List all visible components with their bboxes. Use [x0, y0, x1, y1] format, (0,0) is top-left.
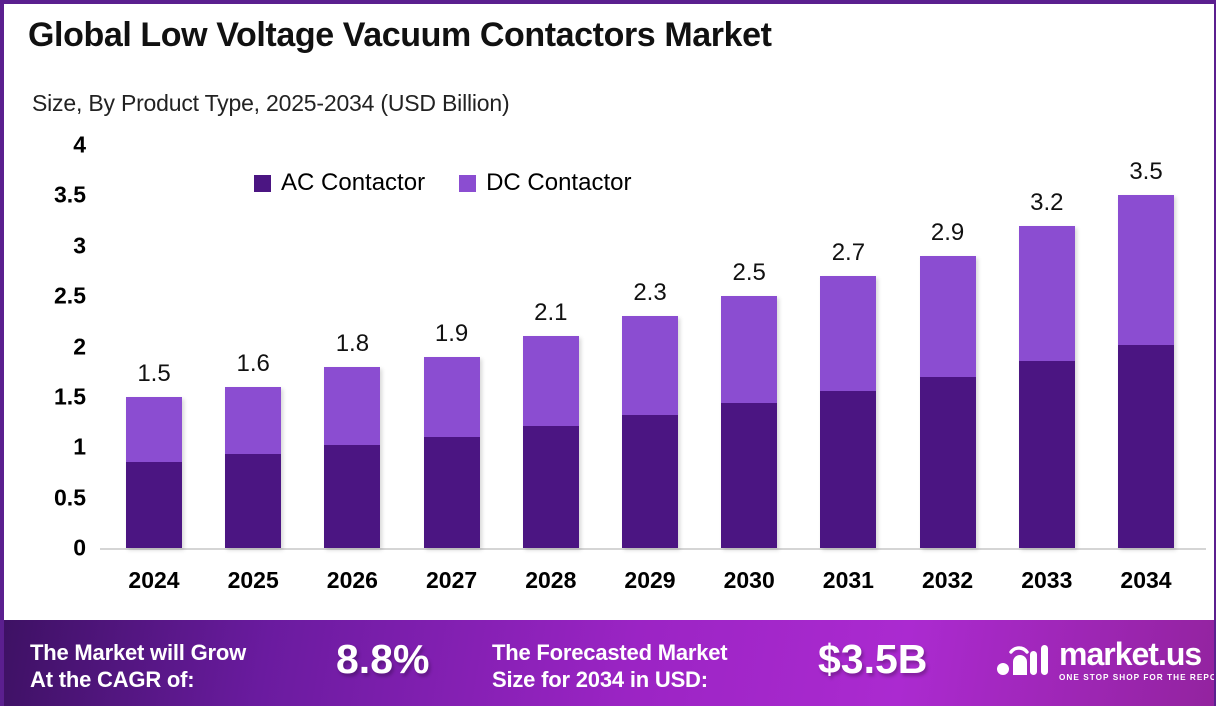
bar-total-label: 2.9: [931, 219, 964, 247]
bar-group[interactable]: 1.62025: [225, 387, 281, 548]
bar-segment-ac-contactor[interactable]: [225, 454, 281, 548]
size-caption-line1: The Forecasted Market: [492, 640, 727, 667]
market-us-logo-text: market.us ONE STOP SHOP FOR THE REPORTS: [1059, 638, 1216, 682]
bar-total-label: 3.5: [1129, 158, 1162, 186]
x-axis-label: 2027: [426, 567, 477, 594]
bar-total-label: 2.3: [633, 279, 666, 307]
bar-segment-dc-contactor[interactable]: [424, 357, 480, 438]
bar-stack[interactable]: [225, 387, 281, 548]
bar-series-container: 1.520241.620251.820261.920272.120282.320…: [4, 129, 1216, 604]
bar-group[interactable]: 1.52024: [126, 397, 182, 548]
bar-stack[interactable]: [126, 397, 182, 548]
bar-segment-ac-contactor[interactable]: [523, 426, 579, 548]
bar-group[interactable]: 2.92032: [920, 256, 976, 548]
bar-segment-ac-contactor[interactable]: [920, 377, 976, 548]
bar-group[interactable]: 3.52034: [1118, 195, 1174, 548]
bar-segment-ac-contactor[interactable]: [324, 445, 380, 548]
footer-banner: The Market will Grow At the CAGR of: 8.8…: [0, 620, 1216, 706]
bar-total-label: 1.8: [336, 330, 369, 358]
x-axis-label: 2029: [624, 567, 675, 594]
bar-group[interactable]: 2.52030: [721, 296, 777, 548]
bar-group[interactable]: 2.12028: [523, 336, 579, 548]
cagr-caption: The Market will Grow At the CAGR of:: [30, 640, 246, 694]
bar-stack[interactable]: [424, 357, 480, 548]
bar-segment-ac-contactor[interactable]: [721, 403, 777, 548]
page-title: Global Low Voltage Vacuum Contactors Mar…: [28, 16, 772, 55]
bar-total-label: 1.5: [137, 360, 170, 388]
cagr-caption-line2: At the CAGR of:: [30, 667, 246, 694]
bar-group[interactable]: 1.92027: [424, 357, 480, 548]
bar-segment-ac-contactor[interactable]: [1019, 361, 1075, 548]
bar-segment-dc-contactor[interactable]: [225, 387, 281, 455]
bar-segment-dc-contactor[interactable]: [1019, 226, 1075, 361]
forecast-size-value: $3.5B: [818, 636, 927, 683]
forecast-size-caption: The Forecasted Market Size for 2034 in U…: [492, 640, 727, 694]
bar-total-label: 1.6: [237, 350, 270, 378]
chart-plot-area: 00.511.522.533.54 AC Contactor DC Contac…: [4, 129, 1216, 604]
bar-stack[interactable]: [920, 256, 976, 548]
x-axis-label: 2026: [327, 567, 378, 594]
bar-stack[interactable]: [721, 296, 777, 548]
bar-total-label: 3.2: [1030, 189, 1063, 217]
bar-segment-ac-contactor[interactable]: [126, 462, 182, 548]
bar-segment-dc-contactor[interactable]: [126, 397, 182, 462]
bar-segment-ac-contactor[interactable]: [1118, 345, 1174, 549]
bar-stack[interactable]: [1118, 195, 1174, 548]
bar-segment-ac-contactor[interactable]: [820, 391, 876, 548]
bar-segment-dc-contactor[interactable]: [1118, 195, 1174, 344]
bar-segment-dc-contactor[interactable]: [523, 336, 579, 426]
x-axis-label: 2028: [525, 567, 576, 594]
logo-tagline: ONE STOP SHOP FOR THE REPORTS: [1059, 673, 1216, 682]
bar-segment-dc-contactor[interactable]: [622, 316, 678, 415]
x-axis-label: 2031: [823, 567, 874, 594]
market-us-logo-mark-icon: [996, 643, 1050, 677]
x-axis-label: 2033: [1021, 567, 1072, 594]
bar-total-label: 1.9: [435, 320, 468, 348]
bar-total-label: 2.1: [534, 299, 567, 327]
bar-segment-ac-contactor[interactable]: [622, 415, 678, 548]
bar-segment-dc-contactor[interactable]: [721, 296, 777, 403]
bar-stack[interactable]: [1019, 226, 1075, 548]
bar-group[interactable]: 1.82026: [324, 367, 380, 548]
bar-segment-ac-contactor[interactable]: [424, 437, 480, 548]
bar-stack[interactable]: [622, 316, 678, 548]
x-axis-label: 2025: [228, 567, 279, 594]
x-axis-label: 2032: [922, 567, 973, 594]
bar-segment-dc-contactor[interactable]: [324, 367, 380, 446]
bar-total-label: 2.5: [733, 259, 766, 287]
bar-total-label: 2.7: [832, 239, 865, 267]
bar-group[interactable]: 2.32029: [622, 316, 678, 548]
cagr-value: 8.8%: [336, 636, 429, 683]
bar-segment-dc-contactor[interactable]: [820, 276, 876, 391]
bar-stack[interactable]: [324, 367, 380, 548]
logo-wordmark: market.us: [1059, 638, 1216, 670]
x-axis-label: 2034: [1120, 567, 1171, 594]
x-axis-label: 2030: [724, 567, 775, 594]
chart-page: Global Low Voltage Vacuum Contactors Mar…: [0, 0, 1216, 706]
bar-stack[interactable]: [523, 336, 579, 548]
bar-segment-dc-contactor[interactable]: [920, 256, 976, 377]
cagr-caption-line1: The Market will Grow: [30, 640, 246, 667]
size-caption-line2: Size for 2034 in USD:: [492, 667, 727, 694]
x-axis-label: 2024: [128, 567, 179, 594]
bar-stack[interactable]: [820, 276, 876, 548]
bar-group[interactable]: 2.72031: [820, 276, 876, 548]
bar-group[interactable]: 3.22033: [1019, 226, 1075, 548]
chart-subtitle: Size, By Product Type, 2025-2034 (USD Bi…: [32, 90, 509, 117]
market-us-logo[interactable]: market.us ONE STOP SHOP FOR THE REPORTS: [996, 638, 1216, 682]
